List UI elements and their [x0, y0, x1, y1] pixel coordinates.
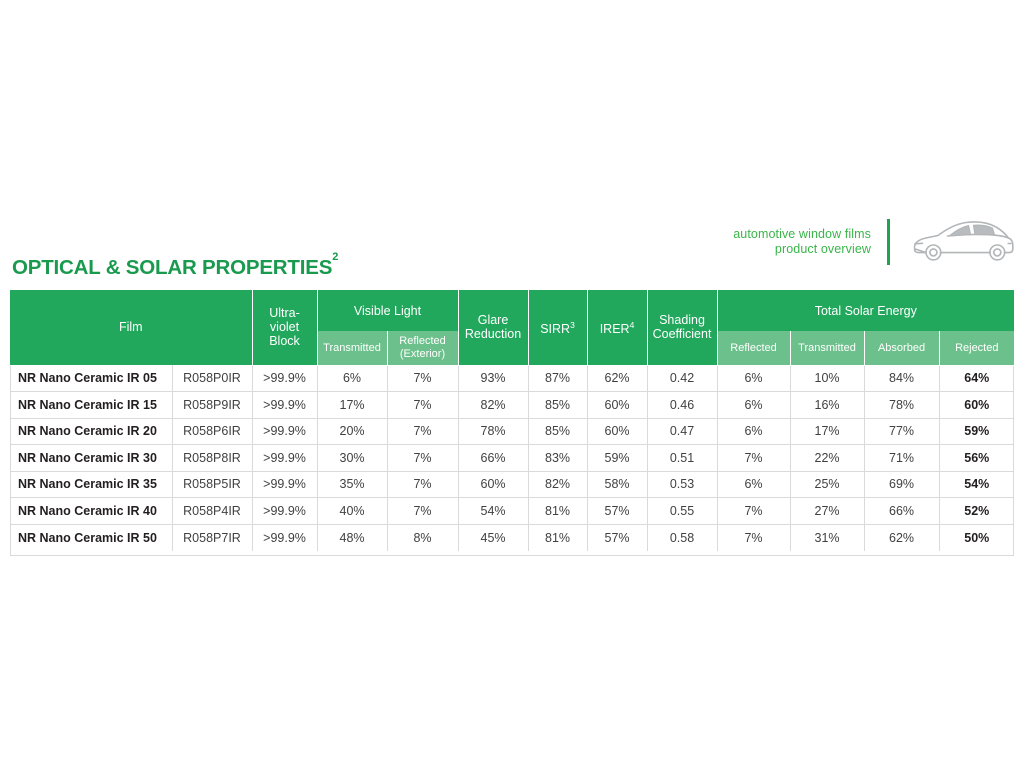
subheader-vl-reflected: Reflected (Exterior): [387, 331, 458, 365]
optical-solar-properties-table-wrap: Film Ultra- violet Block Visible Light G…: [10, 290, 1014, 551]
cell-value: 57%: [587, 498, 647, 525]
cell-value: 45%: [458, 524, 528, 551]
cell-value: 82%: [528, 471, 587, 498]
cell-tse-rejected: 56%: [939, 445, 1014, 472]
cell-value: 0.46: [647, 392, 717, 419]
cell-value: 85%: [528, 392, 587, 419]
cell-value: 0.42: [647, 365, 717, 392]
cell-film-name: NR Nano Ceramic IR 05: [10, 365, 172, 392]
cell-value: 71%: [864, 445, 939, 472]
cell-value: R058P8IR: [172, 445, 252, 472]
cell-value: 81%: [528, 524, 587, 551]
cell-value: 8%: [387, 524, 458, 551]
subheader-vl-reflected-line1: Reflected: [399, 335, 445, 347]
subheader-tse-reflected: Reflected: [717, 331, 790, 365]
table-row: NR Nano Ceramic IR 20R058P6IR>99.9%20%7%…: [10, 418, 1014, 445]
page-title-superscript: 2: [332, 251, 338, 263]
cell-value: 85%: [528, 418, 587, 445]
cell-value: 6%: [717, 392, 790, 419]
cell-value: 6%: [317, 365, 387, 392]
cell-value: 66%: [458, 445, 528, 472]
cell-value: 35%: [317, 471, 387, 498]
branding-line-1: automotive window films: [733, 227, 871, 242]
cell-value: 6%: [717, 418, 790, 445]
cell-film-name: NR Nano Ceramic IR 35: [10, 471, 172, 498]
product-overview-page: automotive window films product overview: [0, 0, 1024, 768]
cell-tse-rejected: 60%: [939, 392, 1014, 419]
cell-value: 81%: [528, 498, 587, 525]
cell-value: >99.9%: [252, 365, 317, 392]
cell-value: 17%: [790, 418, 864, 445]
cell-value: 7%: [717, 445, 790, 472]
header-uv-block-line2: violet: [270, 320, 299, 334]
cell-tse-rejected: 54%: [939, 471, 1014, 498]
subheader-vl-transmitted: Transmitted: [317, 331, 387, 365]
subheader-tse-absorbed: Absorbed: [864, 331, 939, 365]
cell-value: 7%: [387, 418, 458, 445]
cell-value: 10%: [790, 365, 864, 392]
cell-value: 69%: [864, 471, 939, 498]
cell-value: 17%: [317, 392, 387, 419]
cell-value: >99.9%: [252, 524, 317, 551]
cell-value: 82%: [458, 392, 528, 419]
cell-value: 7%: [387, 445, 458, 472]
header-uv-block-line3: Block: [269, 334, 300, 348]
table-row: NR Nano Ceramic IR 50R058P7IR>99.9%48%8%…: [10, 524, 1014, 551]
cell-value: 27%: [790, 498, 864, 525]
header-row-groups: Film Ultra- violet Block Visible Light G…: [10, 290, 1014, 331]
cell-tse-rejected: 64%: [939, 365, 1014, 392]
header-irer-superscript: 4: [630, 320, 635, 330]
cell-value: 59%: [587, 445, 647, 472]
cell-value: 62%: [864, 524, 939, 551]
table-header: Film Ultra- violet Block Visible Light G…: [10, 290, 1014, 365]
cell-value: 54%: [458, 498, 528, 525]
cell-value: 0.47: [647, 418, 717, 445]
cell-value: 20%: [317, 418, 387, 445]
cell-value: 58%: [587, 471, 647, 498]
cell-value: 84%: [864, 365, 939, 392]
cell-value: 60%: [458, 471, 528, 498]
cell-tse-rejected: 52%: [939, 498, 1014, 525]
subheader-vl-reflected-line2: (Exterior): [400, 348, 445, 360]
subheader-tse-transmitted: Transmitted: [790, 331, 864, 365]
cell-value: 83%: [528, 445, 587, 472]
header-sirr-label: SIRR: [540, 322, 570, 336]
subheader-tse-rejected: Rejected: [939, 331, 1014, 365]
cell-value: 57%: [587, 524, 647, 551]
cell-value: 78%: [864, 392, 939, 419]
cell-value: R058P6IR: [172, 418, 252, 445]
cell-value: 7%: [387, 471, 458, 498]
header-irer: IRER4: [587, 290, 647, 365]
table-row: NR Nano Ceramic IR 05R058P0IR>99.9%6%7%9…: [10, 365, 1014, 392]
cell-value: 0.55: [647, 498, 717, 525]
cell-value: R058P7IR: [172, 524, 252, 551]
cell-value: 7%: [387, 498, 458, 525]
cell-value: 60%: [587, 392, 647, 419]
header-shading-line1: Shading: [659, 313, 705, 327]
cell-value: 78%: [458, 418, 528, 445]
table-body: NR Nano Ceramic IR 05R058P0IR>99.9%6%7%9…: [10, 365, 1014, 551]
header-glare-line1: Glare: [478, 313, 509, 327]
cell-tse-rejected: 50%: [939, 524, 1014, 551]
header-film: Film: [10, 290, 252, 365]
table-row: NR Nano Ceramic IR 40R058P4IR>99.9%40%7%…: [10, 498, 1014, 525]
brand-divider-rule: [887, 219, 890, 265]
cell-value: 0.58: [647, 524, 717, 551]
cell-value: 48%: [317, 524, 387, 551]
table-row: NR Nano Ceramic IR 15R058P9IR>99.9%17%7%…: [10, 392, 1014, 419]
table-row: NR Nano Ceramic IR 35R058P5IR>99.9%35%7%…: [10, 471, 1014, 498]
header-uv-block: Ultra- violet Block: [252, 290, 317, 365]
page-title: OPTICAL & SOLAR PROPERTIES2: [12, 256, 338, 280]
header-irer-label: IRER: [600, 322, 630, 336]
branding-text: automotive window films product overview: [733, 227, 871, 257]
branding-line-2: product overview: [733, 242, 871, 257]
cell-value: 62%: [587, 365, 647, 392]
optical-solar-properties-table: Film Ultra- violet Block Visible Light G…: [10, 290, 1014, 551]
cell-value: 0.53: [647, 471, 717, 498]
cell-value: 16%: [790, 392, 864, 419]
header-visible-light: Visible Light: [317, 290, 458, 331]
cell-value: 66%: [864, 498, 939, 525]
cell-value: R058P4IR: [172, 498, 252, 525]
header-glare-line2: Reduction: [465, 327, 521, 341]
cell-value: 0.51: [647, 445, 717, 472]
cell-value: 7%: [387, 365, 458, 392]
cell-value: 7%: [387, 392, 458, 419]
cell-value: 31%: [790, 524, 864, 551]
header-shading-line2: Coefficient: [653, 327, 712, 341]
header-uv-block-line1: Ultra-: [269, 306, 300, 320]
table-row: NR Nano Ceramic IR 30R058P8IR>99.9%30%7%…: [10, 445, 1014, 472]
cell-value: >99.9%: [252, 392, 317, 419]
cell-value: >99.9%: [252, 445, 317, 472]
cell-value: 60%: [587, 418, 647, 445]
cell-value: 25%: [790, 471, 864, 498]
cell-value: R058P0IR: [172, 365, 252, 392]
header-glare-reduction: Glare Reduction: [458, 290, 528, 365]
cell-value: 7%: [717, 524, 790, 551]
cell-value: 7%: [717, 498, 790, 525]
cell-value: R058P5IR: [172, 471, 252, 498]
cell-film-name: NR Nano Ceramic IR 20: [10, 418, 172, 445]
cell-film-name: NR Nano Ceramic IR 50: [10, 524, 172, 551]
cell-value: 93%: [458, 365, 528, 392]
cell-value: 30%: [317, 445, 387, 472]
header-total-solar-energy: Total Solar Energy: [717, 290, 1014, 331]
cell-value: R058P9IR: [172, 392, 252, 419]
header-sirr: SIRR3: [528, 290, 587, 365]
cell-tse-rejected: 59%: [939, 418, 1014, 445]
cell-value: 87%: [528, 365, 587, 392]
header-shading-coefficient: Shading Coefficient: [647, 290, 717, 365]
header-sirr-superscript: 3: [570, 320, 575, 330]
cell-value: 77%: [864, 418, 939, 445]
cell-film-name: NR Nano Ceramic IR 40: [10, 498, 172, 525]
cell-value: 6%: [717, 365, 790, 392]
cell-value: 6%: [717, 471, 790, 498]
cell-value: >99.9%: [252, 471, 317, 498]
cell-value: 22%: [790, 445, 864, 472]
car-hatchback-icon: [908, 216, 1016, 268]
branding-block: automotive window films product overview: [700, 216, 1016, 268]
cell-value: >99.9%: [252, 498, 317, 525]
page-title-text: OPTICAL & SOLAR PROPERTIES: [12, 256, 332, 279]
cell-film-name: NR Nano Ceramic IR 30: [10, 445, 172, 472]
cell-value: >99.9%: [252, 418, 317, 445]
cell-value: 40%: [317, 498, 387, 525]
cell-film-name: NR Nano Ceramic IR 15: [10, 392, 172, 419]
